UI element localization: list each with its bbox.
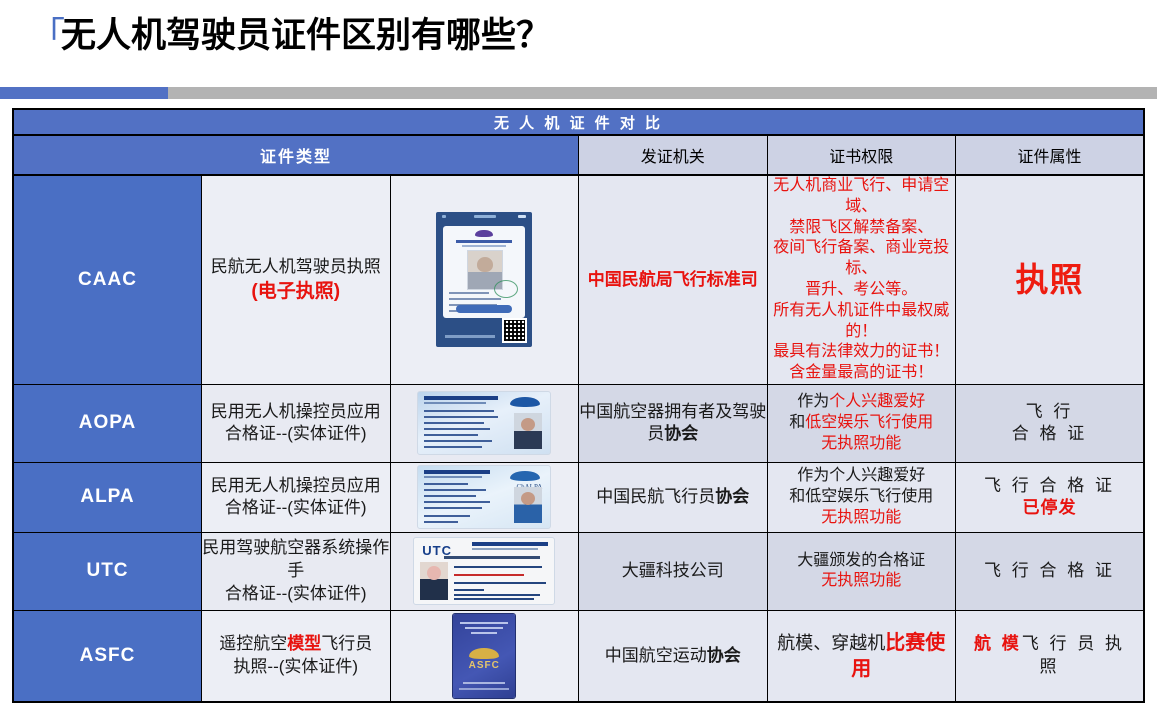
aopa-issuer-bold: 协会 xyxy=(664,424,698,443)
row-authority-caac: 无人机商业飞行、申请空域、 禁限飞区解禁备案、 夜间飞行备案、商业竞投标、 晋升… xyxy=(767,175,956,384)
row-name-aopa: 民用无人机操控员应用 合格证--(实体证件) xyxy=(202,384,391,462)
divider-blue-segment xyxy=(0,87,168,99)
caac-name-line2: (电子执照) xyxy=(202,279,390,305)
row-name-alpa: 民用无人机操控员应用 合格证--(实体证件) xyxy=(202,462,391,532)
row-image-utc: UTC xyxy=(390,532,579,610)
alpa-card-subtitle-line xyxy=(424,476,482,478)
aopa-id-card xyxy=(417,391,551,455)
header-certificate-type: 证件类型 xyxy=(13,135,579,175)
aopa-attr-line1: 飞 行 xyxy=(956,401,1143,424)
asfc-title-line1 xyxy=(460,622,508,624)
asfc-issuer-bold: 协会 xyxy=(707,646,741,665)
page-title: 「无人机驾驶员证件区别有哪些？ xyxy=(30,18,551,53)
aopa-logo-icon xyxy=(510,397,540,407)
row-issuer-aopa: 中国航空器拥有者及驾驶 员协会 xyxy=(579,384,768,462)
aopa-auth-line-2: 和低空娱乐飞行使用 xyxy=(768,413,956,434)
certificate-comparison-table: 无 人 机 证 件 对 比 证件类型 发证机关 证书权限 证件属性 CAAC 民… xyxy=(12,108,1145,703)
title-divider xyxy=(0,87,1157,99)
table-row-caac: CAAC 民航无人机驾驶员执照 (电子执照) xyxy=(13,175,1144,384)
asfc-name-line2: 执照--(实体证件) xyxy=(202,656,390,679)
asfc-attr-rest: 飞 行 员 执 xyxy=(1022,634,1125,653)
row-attribute-utc: 飞 行 合 格 证 xyxy=(956,532,1145,610)
asfc-name-part1: 遥控航空 xyxy=(219,634,287,653)
asfc-attr-line2: 照 xyxy=(956,656,1143,679)
utc-card-title-line xyxy=(472,542,548,546)
license-title-line xyxy=(456,240,512,243)
row-code-asfc: ASFC xyxy=(13,610,202,702)
row-image-alpa: ChALPA xyxy=(390,462,579,532)
utc-operator-certificate: UTC xyxy=(413,537,555,605)
table-row-alpa: ALPA 民用无人机操控员应用 合格证--(实体证件) ChALPA xyxy=(13,462,1144,532)
asfc-name-part2: 飞行员 xyxy=(321,634,372,653)
asfc-title-line3 xyxy=(471,632,497,634)
title-bracket-icon: 「 xyxy=(30,18,65,53)
table-caption: 无 人 机 证 件 对 比 xyxy=(13,109,1144,135)
aopa-attr-line2: 合 格 证 xyxy=(956,423,1143,446)
asfc-footer-line1 xyxy=(463,682,505,684)
alpa-auth-line-1: 作为个人兴趣爱好 xyxy=(768,466,956,487)
aopa-card-subtitle-line xyxy=(424,402,486,404)
asfc-wing-emblem-icon xyxy=(469,648,499,659)
table-header-row: 证件类型 发证机关 证书权限 证件属性 xyxy=(13,135,1144,175)
caac-name-line1: 民航无人机驾驶员执照 xyxy=(202,256,390,279)
row-attribute-alpa: 飞 行 合 格 证 已停发 xyxy=(956,462,1145,532)
caac-electronic-license-phone-screenshot xyxy=(436,212,532,347)
row-name-asfc: 遥控航空模型飞行员 执照--(实体证件) xyxy=(202,610,391,702)
caac-auth-line-7: 含金量最高的证书！ xyxy=(768,363,956,384)
asfc-issuer-plain: 中国航空运动 xyxy=(605,646,707,665)
phone-footer-line xyxy=(445,335,495,338)
chalpa-id-card: ChALPA xyxy=(417,465,551,529)
table-row-aopa: AOPA 民用无人机操控员应用 合格证--(实体证件) xyxy=(13,384,1144,462)
chalpa-logo-icon xyxy=(510,471,540,481)
asfc-name-red: 模型 xyxy=(287,634,321,653)
caac-auth-line-1: 无人机商业飞行、申请空域、 xyxy=(768,176,956,218)
row-name-caac: 民航无人机驾驶员执照 (电子执照) xyxy=(202,175,391,384)
aopa-issuer-prefix: 员 xyxy=(647,424,664,443)
alpa-auth-line-3: 无执照功能 xyxy=(768,508,956,529)
row-authority-utc: 大疆颁发的合格证 无执照功能 xyxy=(767,532,956,610)
caac-eagle-logo-icon xyxy=(475,230,493,237)
row-issuer-utc: 大疆科技公司 xyxy=(579,532,768,610)
row-authority-aopa: 作为个人兴趣爱好 和低空娱乐飞行使用 无执照功能 xyxy=(767,384,956,462)
header-issuer: 发证机关 xyxy=(579,135,768,175)
license-action-button[interactable] xyxy=(456,305,512,313)
qr-code-icon xyxy=(502,318,527,343)
alpa-card-title-line xyxy=(424,470,490,474)
row-image-aopa xyxy=(390,384,579,462)
utc-auth-line-2: 无执照功能 xyxy=(768,571,956,592)
alpa-issuer-bold: 协会 xyxy=(715,487,749,506)
utc-name-line2: 合格证--(实体证件) xyxy=(202,583,390,606)
asfc-booklet: ASFC xyxy=(453,614,515,698)
caac-auth-line-5: 所有无人机证件中最权威的！ xyxy=(768,301,956,343)
asfc-emblem-text: ASFC xyxy=(453,660,515,671)
utc-category-line xyxy=(444,556,540,559)
table-row-utc: UTC 民用驾驶航空器系统操作手 合格证--(实体证件) UTC xyxy=(13,532,1144,610)
row-authority-asfc: 航模、穿越机比赛使用 xyxy=(767,610,956,702)
row-attribute-aopa: 飞 行 合 格 证 xyxy=(956,384,1145,462)
row-issuer-caac: 中国民航局飞行标准司 xyxy=(579,175,768,384)
utc-card-subtitle-line xyxy=(472,548,538,550)
caac-attribute-text: 执照 xyxy=(1016,261,1084,298)
alpa-auth-line-2: 和低空娱乐飞行使用 xyxy=(768,487,956,508)
aopa-auth-line-3: 无执照功能 xyxy=(768,434,956,455)
license-seal-icon xyxy=(494,280,518,298)
alpa-name-line1: 民用无人机操控员应用 xyxy=(202,475,390,498)
alpa-attr-line2: 已停发 xyxy=(956,497,1143,520)
row-attribute-asfc: 航 模飞 行 员 执 照 xyxy=(956,610,1145,702)
aopa-name-line2: 合格证--(实体证件) xyxy=(202,423,390,446)
utc-auth-line-1: 大疆颁发的合格证 xyxy=(768,551,956,572)
aopa-issuer-plain: 中国航空器拥有者及驾驶 xyxy=(579,402,766,421)
aopa-portrait xyxy=(514,413,542,449)
divider-gray-segment xyxy=(168,87,1157,99)
caac-auth-line-6: 最具有法律效力的证书！ xyxy=(768,342,956,363)
asfc-footer-line2 xyxy=(459,688,509,690)
table-caption-row: 无 人 机 证 件 对 比 xyxy=(13,109,1144,135)
aopa-auth-line-1: 作为个人兴趣爱好 xyxy=(768,392,956,413)
aopa-name-line1: 民用无人机操控员应用 xyxy=(202,401,390,424)
row-issuer-asfc: 中国航空运动协会 xyxy=(579,610,768,702)
title-text: 无人机驾驶员证件区别有哪些？ xyxy=(61,16,551,55)
row-code-alpa: ALPA xyxy=(13,462,202,532)
caac-auth-line-2: 禁限飞区解禁备案、 xyxy=(768,218,956,239)
asfc-auth-plain: 航模、穿越机 xyxy=(777,633,885,653)
row-code-aopa: AOPA xyxy=(13,384,202,462)
alpa-attr-line1: 飞 行 合 格 证 xyxy=(956,475,1143,498)
license-subtitle-line xyxy=(462,245,506,247)
header-attribute: 证件属性 xyxy=(956,135,1145,175)
utc-name-line1: 民用驾驶航空器系统操作手 xyxy=(202,537,390,583)
asfc-attr-red: 航 模 xyxy=(974,634,1022,653)
alpa-issuer-plain: 中国民航飞行员 xyxy=(596,487,715,506)
row-code-caac: CAAC xyxy=(13,175,202,384)
row-image-asfc: ASFC xyxy=(390,610,579,702)
header-authority: 证书权限 xyxy=(767,135,956,175)
alpa-name-line2: 合格证--(实体证件) xyxy=(202,497,390,520)
asfc-name-line1: 遥控航空模型飞行员 xyxy=(202,633,390,656)
aopa-card-title-line xyxy=(424,396,498,400)
row-code-utc: UTC xyxy=(13,532,202,610)
table-row-asfc: ASFC 遥控航空模型飞行员 执照--(实体证件) ASFC 中国航空运动协会 xyxy=(13,610,1144,702)
asfc-title-line2 xyxy=(465,627,503,629)
row-attribute-caac: 执照 xyxy=(956,175,1145,384)
row-name-utc: 民用驾驶航空器系统操作手 合格证--(实体证件) xyxy=(202,532,391,610)
utc-portrait xyxy=(420,562,448,600)
license-card xyxy=(443,226,525,318)
row-image-caac xyxy=(390,175,579,384)
alpa-portrait xyxy=(514,487,542,523)
caac-auth-line-3: 夜间飞行备案、商业竞投标、 xyxy=(768,238,956,280)
phone-statusbar xyxy=(436,215,532,223)
asfc-attr-line1: 航 模飞 行 员 执 xyxy=(956,633,1143,656)
row-issuer-alpa: 中国民航飞行员协会 xyxy=(579,462,768,532)
row-authority-alpa: 作为个人兴趣爱好 和低空娱乐飞行使用 无执照功能 xyxy=(767,462,956,532)
caac-auth-line-4: 晋升、考公等。 xyxy=(768,280,956,301)
